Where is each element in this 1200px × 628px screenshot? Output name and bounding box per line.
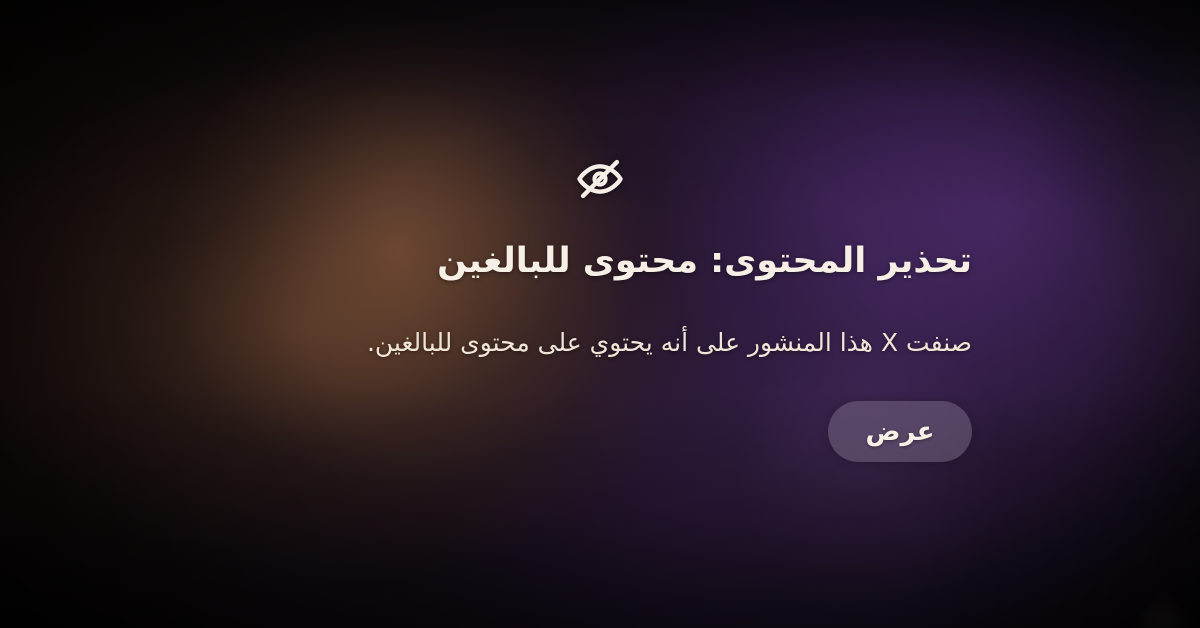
view-button[interactable]: عرض: [828, 401, 972, 462]
warning-description: صنفت X هذا المنشور على أنه يحتوي على محت…: [212, 325, 972, 361]
eye-slash-icon: [571, 150, 629, 208]
content-warning-screen: تحذير المحتوى: محتوى للبالغين صنفت X هذا…: [0, 0, 1200, 628]
content-warning-overlay: تحذير المحتوى: محتوى للبالغين صنفت X هذا…: [0, 0, 1200, 628]
warning-icon-container: [0, 150, 1200, 208]
page-title: تحذير المحتوى: محتوى للبالغين: [437, 239, 972, 284]
